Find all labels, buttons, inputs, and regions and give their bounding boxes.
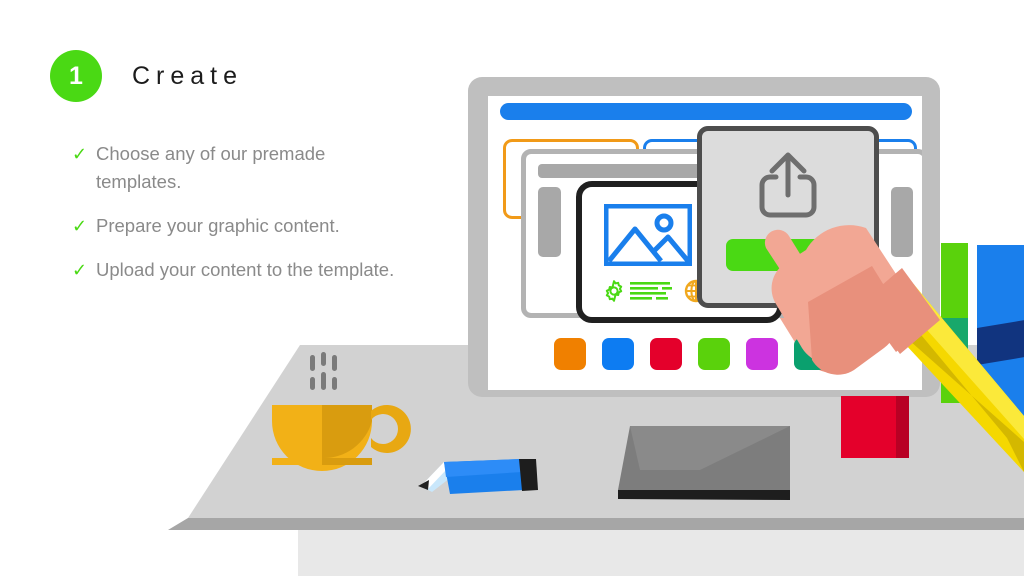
hand-pencil-overlay: [0, 0, 1024, 576]
slide-canvas: 1 Create ✓ Choose any of our premade tem…: [0, 0, 1024, 576]
